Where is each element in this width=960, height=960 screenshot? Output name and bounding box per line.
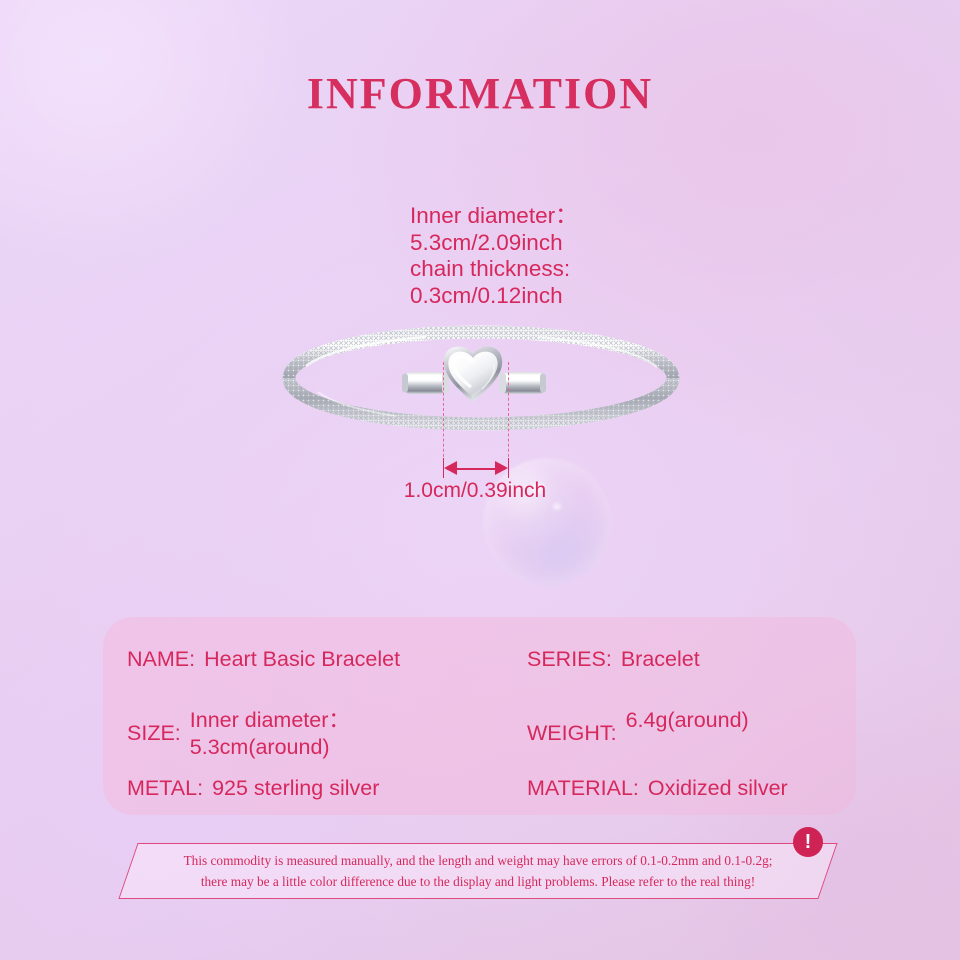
warning-exclamation-icon: ! (793, 827, 823, 857)
spec-value-size: Inner diameter： 5.3cm(around) (190, 707, 350, 761)
clasp-tube-right (499, 372, 546, 394)
clasp-tube-left (402, 372, 449, 394)
spec-row-metal: METAL: 925 sterling silver (127, 775, 379, 802)
spec-row-series: SERIES: Bracelet (527, 646, 700, 673)
measure-arrowhead-left-icon (444, 461, 457, 475)
spec-key-weight: WEIGHT: (527, 707, 617, 747)
spec-value-name: Heart Basic Bracelet (204, 646, 400, 673)
spec-value-series: Bracelet (621, 646, 700, 673)
spec-key-size: SIZE: (127, 707, 181, 747)
background-glow-top-left (0, 0, 310, 260)
bubble-highlight-small (553, 503, 561, 510)
spec-value-weight: 6.4g(around) (626, 707, 749, 734)
decorative-bubble (483, 458, 611, 586)
spec-value-metal: 925 sterling silver (212, 775, 379, 802)
spec-row-weight: WEIGHT: 6.4g(around) (527, 707, 749, 747)
spec-value-material: Oxidized silver (648, 775, 788, 802)
measure-arrowhead-right-icon (495, 461, 508, 475)
measure-guide-left (443, 362, 444, 462)
spec-key-material: MATERIAL: (527, 775, 639, 802)
measure-guide-right (508, 362, 509, 462)
measurement-label-text: 1.0cm/0.39inch (404, 479, 546, 502)
bracelet-image (276, 318, 686, 438)
heart-charm-icon (444, 347, 502, 402)
disclaimer-banner: This commodity is measured manually, and… (128, 843, 828, 899)
page-title: INFORMATION (0, 68, 960, 119)
spec-key-series: SERIES: (527, 646, 612, 673)
specifications-panel: NAME: Heart Basic Bracelet SERIES: Brace… (103, 617, 856, 815)
spec-key-metal: METAL: (127, 775, 203, 802)
spec-row-size: SIZE: Inner diameter： 5.3cm(around) (127, 707, 350, 761)
disclaimer-text: This commodity is measured manually, and… (168, 850, 788, 892)
product-information-page: INFORMATION Inner diameter： 5.3cm/2.09in… (0, 0, 960, 960)
dimension-callout-text: Inner diameter： 5.3cm/2.09inch chain thi… (410, 203, 578, 309)
spec-key-name: NAME: (127, 646, 195, 673)
measure-tick-right (508, 458, 509, 478)
spec-row-name: NAME: Heart Basic Bracelet (127, 646, 400, 673)
measurement-label: 1.0cm/0.39inch (0, 479, 960, 503)
spec-row-material: MATERIAL: Oxidized silver (527, 775, 788, 802)
